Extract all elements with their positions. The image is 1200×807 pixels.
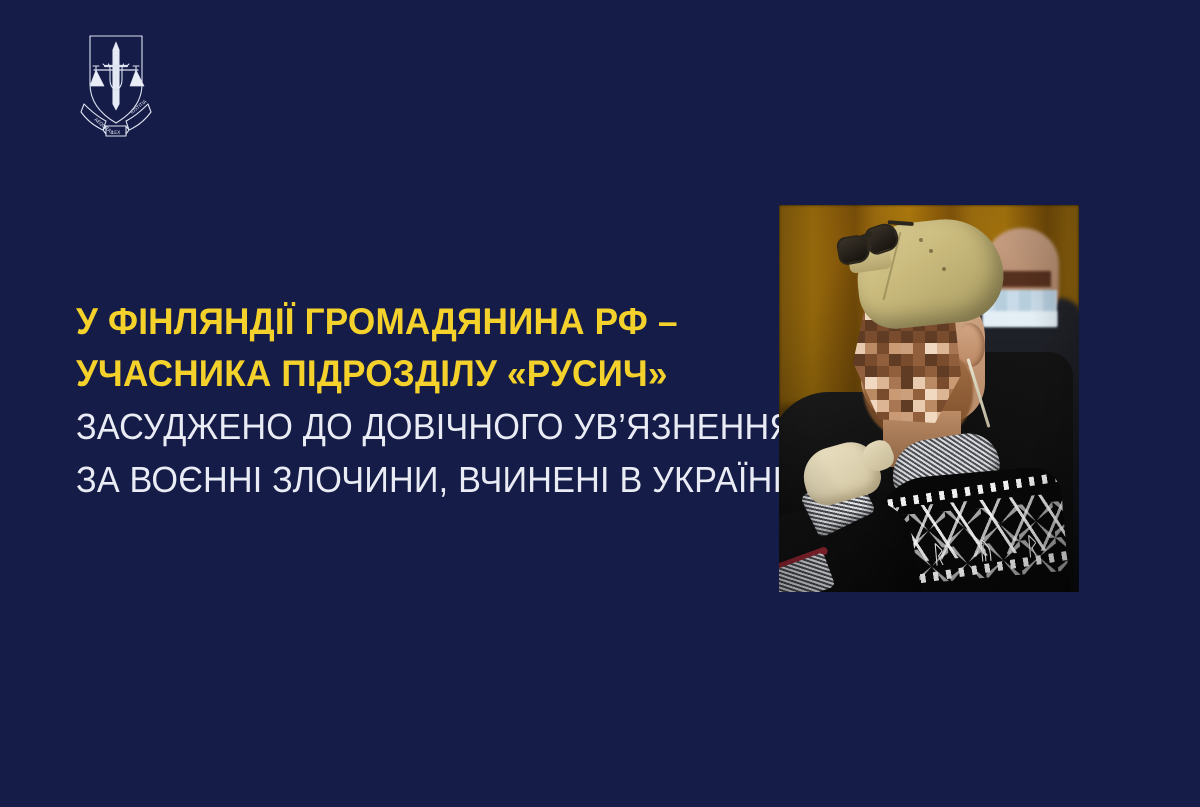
headline-line-3: ЗАСУДЖЕНО ДО ДОВІЧНОГО УВ’ЯЗНЕННЯ — [76, 400, 703, 453]
poster-canvas: AEQUITAS LEX IUSTITIA У ФІНЛЯНДІЇ ГРОМАД… — [0, 0, 1200, 807]
prosecutor-general-emblem: AEQUITAS LEX IUSTITIA — [72, 26, 160, 146]
headline-block: У ФІНЛЯНДІЇ ГРОМАДЯНИНА РФ – УЧАСНИКА ПІ… — [76, 296, 736, 506]
emblem-motto-center: LEX — [112, 130, 121, 136]
headline-line-1: У ФІНЛЯНДІЇ ГРОМАДЯНИНА РФ – — [76, 296, 703, 348]
courtroom-photo: ᚠ ᚱ ᚥ ᚱ — [779, 205, 1079, 592]
headline-line-2: УЧАСНИКА ПІДРОЗДІЛУ «РУСИЧ» — [76, 348, 703, 400]
headline-line-4: ЗА ВОЄННІ ЗЛОЧИНИ, ВЧИНЕНІ В УКРАЇНІ — [76, 453, 703, 506]
emblem-motto-right: IUSTITIA — [129, 98, 148, 115]
